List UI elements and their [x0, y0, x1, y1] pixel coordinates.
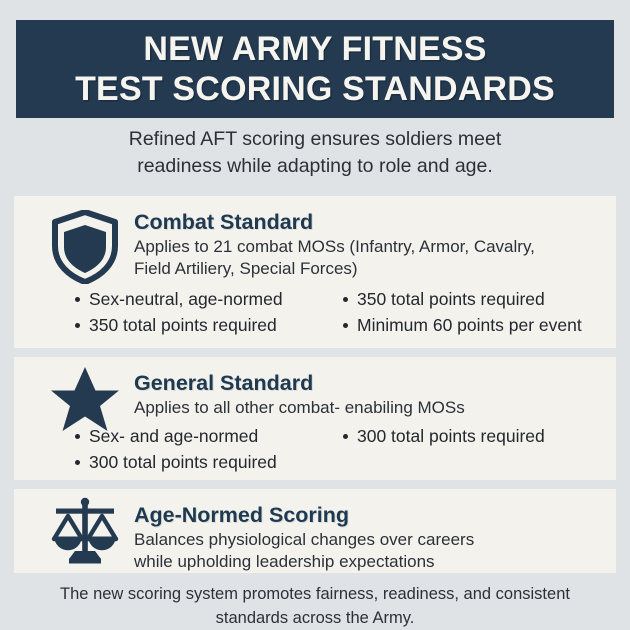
footer-line-2: standards across the Army. — [0, 606, 630, 630]
card-combat-body: Combat Standard Applies to 21 combat MOS… — [134, 209, 606, 280]
subtitle-line-2: readiness while adapting to role and age… — [0, 153, 630, 180]
footer-note: The new scoring system promotes fairness… — [0, 582, 630, 630]
list-item: 300 total points required — [74, 449, 336, 475]
infographic-page: NEW ARMY FITNESS TEST SCORING STANDARDS … — [0, 0, 630, 630]
page-title-line-2: TEST SCORING STANDARDS — [75, 69, 555, 109]
scales-icon — [48, 495, 122, 569]
list-item: 350 total points required — [74, 312, 336, 338]
page-title-line-1: NEW ARMY FITNESS — [143, 29, 486, 69]
card-desc-combat: Applies to 21 combat MOSs (Infantry, Arm… — [134, 236, 606, 280]
card-general-bullets: Sex- and age-normed 300 total points req… — [74, 423, 604, 475]
shield-icon — [48, 210, 122, 284]
header-banner: NEW ARMY FITNESS TEST SCORING STANDARDS — [16, 20, 614, 118]
page-subtitle: Refined AFT scoring ensures soldiers mee… — [0, 126, 630, 180]
card-desc-age-normed-line-1: Balances physiological changes over care… — [134, 529, 606, 551]
card-desc-combat-line-1: Applies to 21 combat MOSs (Infantry, Arm… — [134, 236, 606, 258]
card-agenorm-body: Age-Normed Scoring Balances physiologica… — [134, 502, 606, 573]
card-title-general: General Standard — [134, 370, 606, 396]
card-desc-age-normed: Balances physiological changes over care… — [134, 529, 606, 573]
card-general-body: General Standard Applies to all other co… — [134, 370, 606, 419]
card-general-bullets-left: Sex- and age-normed 300 total points req… — [74, 423, 336, 475]
card-general-standard: General Standard Applies to all other co… — [14, 357, 616, 480]
card-combat-bullets-left: Sex-neutral, age-normed 350 total points… — [74, 286, 336, 338]
list-item: Minimum 60 points per event — [342, 312, 604, 338]
list-item: Sex-neutral, age-normed — [74, 286, 336, 312]
list-item: Sex- and age-normed — [74, 423, 336, 449]
list-item: 300 total points required — [342, 423, 604, 449]
card-title-age-normed: Age-Normed Scoring — [134, 502, 606, 528]
list-item: 350 total points required — [342, 286, 604, 312]
subtitle-line-1: Refined AFT scoring ensures soldiers mee… — [0, 126, 630, 153]
card-desc-combat-line-2: Field Artiliery, Special Forces) — [134, 258, 606, 280]
card-title-combat: Combat Standard — [134, 209, 606, 235]
card-combat-bullets-right: 350 total points required Minimum 60 poi… — [336, 286, 604, 338]
card-combat-standard: Combat Standard Applies to 21 combat MOS… — [14, 196, 616, 348]
card-desc-general-line-1: Applies to all other combat- enabiling M… — [134, 397, 606, 419]
card-combat-bullets: Sex-neutral, age-normed 350 total points… — [74, 286, 604, 338]
card-general-bullets-right: 300 total points required — [336, 423, 604, 475]
card-desc-age-normed-line-2: while upholding leadership expectations — [134, 551, 606, 573]
card-age-normed-scoring: Age-Normed Scoring Balances physiologica… — [14, 489, 616, 573]
footer-line-1: The new scoring system promotes fairness… — [0, 582, 630, 606]
card-desc-general: Applies to all other combat- enabiling M… — [134, 397, 606, 419]
